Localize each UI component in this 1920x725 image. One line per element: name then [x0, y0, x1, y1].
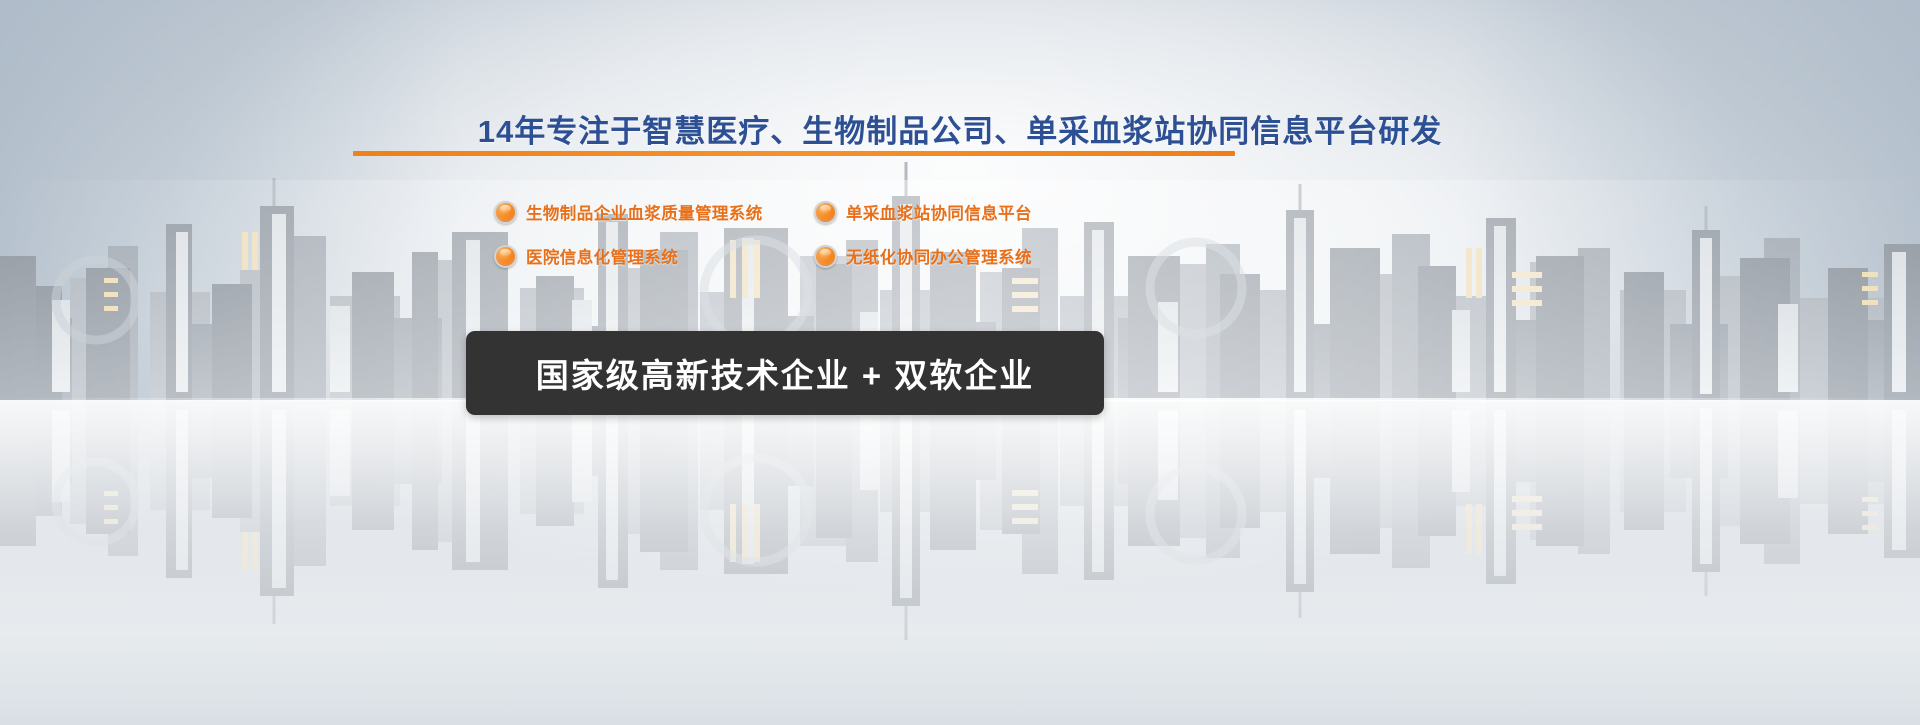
list-item-label: 无纸化协同办公管理系统 [846, 244, 1032, 268]
orange-bullet-icon [494, 245, 517, 268]
list-item-label: 生物制品企业血浆质量管理系统 [526, 200, 763, 224]
list-item-plasma-station-platform[interactable]: 单采血浆站协同信息平台 [814, 200, 1194, 224]
orange-bullet-icon [814, 201, 837, 224]
banner-hero: 14年专注于智慧医疗、生物制品公司、单采血浆站协同信息平台研发 生物制品企业血浆… [0, 0, 1920, 725]
status-badge-label: 国家级高新技术企业 + 双软企业 [536, 349, 1035, 397]
list-item-hospital-information[interactable]: 医院信息化管理系统 [494, 244, 814, 268]
orange-bullet-icon [494, 201, 517, 224]
banner-content: 14年专注于智慧医疗、生物制品公司、单采血浆站协同信息平台研发 生物制品企业血浆… [0, 0, 1920, 725]
list-item-label: 单采血浆站协同信息平台 [846, 200, 1032, 224]
product-list: 生物制品企业血浆质量管理系统 单采血浆站协同信息平台 医院信息化管理系统 无纸化… [494, 190, 1194, 278]
list-item-biological-plasma-quality[interactable]: 生物制品企业血浆质量管理系统 [494, 200, 814, 224]
list-item-label: 医院信息化管理系统 [526, 244, 678, 268]
page-title: 14年专注于智慧医疗、生物制品公司、单采血浆站协同信息平台研发 [0, 106, 1920, 151]
title-underline-rule [353, 151, 1235, 156]
list-item-paperless-office[interactable]: 无纸化协同办公管理系统 [814, 244, 1194, 268]
status-badge: 国家级高新技术企业 + 双软企业 [466, 331, 1104, 415]
orange-bullet-icon [814, 245, 837, 268]
